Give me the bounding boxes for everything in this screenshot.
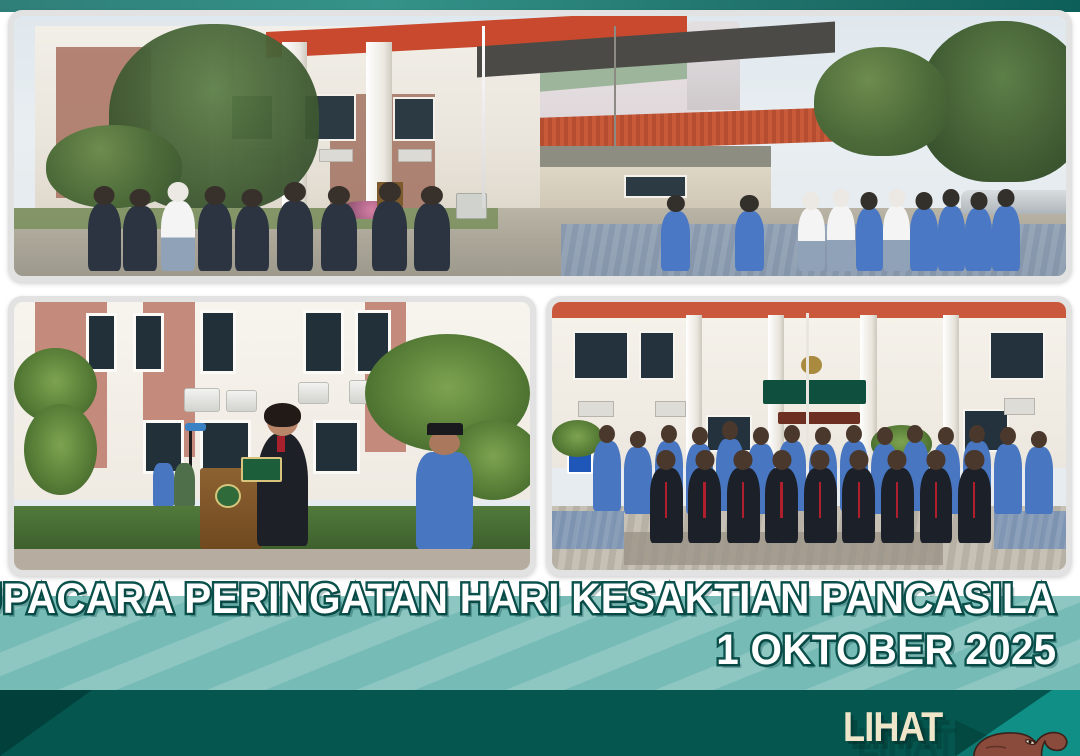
group-member-back [1025,447,1053,514]
official-figure [161,201,195,271]
official-figure [88,203,122,271]
group-member-front [650,468,683,543]
flag-pole [482,26,485,208]
participant-figure [965,208,992,270]
poster-title: UPACARA PERINGATAN HARI KESAKTIAN PANCAS… [0,578,1056,671]
photo-frame-speaker-podium[interactable] [8,296,536,576]
photo-speaker-podium [14,302,530,570]
ac-unit-3 [298,382,329,403]
title-line-1: UPACARA PERINGATAN HARI KESAKTIAN PANCAS… [0,578,1056,620]
tree-far-right [814,47,951,156]
official-figure [277,201,313,271]
photo-ceremony-wide [14,16,1066,276]
official-figure [321,203,357,271]
photo-collage [0,0,1080,600]
canopy-window-2 [624,175,687,198]
mascot-character [966,726,1078,756]
ac-unit-2 [226,390,257,411]
attendee-batik-left [153,463,174,506]
official-figure [414,203,450,271]
group-member-front [765,468,798,543]
group-member-front [804,468,837,543]
official-figure [123,206,157,271]
ceremony-commander [735,211,764,271]
attendee-batik-right [416,452,473,548]
upper-window-1 [86,313,117,372]
ceremony-leader [661,211,690,271]
participant-figure [856,208,883,270]
speaker-hair [264,403,301,427]
photo-frame-group-portrait[interactable] [546,296,1072,576]
palm-fronds-left [24,404,96,495]
participant-figure [938,206,965,271]
ac-unit-left [578,401,614,417]
group-member-back [624,447,652,514]
upper-window-2 [133,313,164,372]
group-member-back [994,444,1022,514]
ac-unit-2 [319,149,353,162]
information-board [763,380,866,404]
ac-unit-3 [398,149,432,162]
group-member-front [881,468,914,543]
participant-figure [910,208,937,270]
microphone-head [185,423,206,431]
mascot-icon [966,726,1078,756]
group-member-front [727,468,760,543]
facade-window-1 [573,331,630,379]
utility-pole [614,26,616,146]
wall-emblem [801,356,822,375]
upper-window-3 [200,310,236,374]
group-member-back [593,441,621,511]
facade-window-3 [989,331,1046,379]
group-member-front [842,468,875,543]
photo-frame-ceremony-wide[interactable] [8,10,1072,282]
poster-canvas: UPACARA PERINGATAN HARI KESAKTIAN PANCAS… [0,0,1080,756]
blue-paving-left [552,511,624,549]
view-more-button[interactable]: LIHAT [843,706,959,748]
participant-figure [827,206,854,271]
blue-paving-right [994,511,1066,549]
office-nameplate [778,412,860,424]
attendee-hijab-left [174,463,195,506]
ceremony-folder [241,457,282,481]
speaker-tie [277,436,285,452]
ac-unit-left-2 [655,401,686,417]
title-line-2: 1 OKTOBER 2025 [0,629,1056,671]
lower-window-3 [313,420,359,474]
group-member-front [688,468,721,543]
facade-window-2 [639,331,675,379]
participant-figure [883,206,910,271]
official-figure [372,201,408,271]
flag-pole [806,313,809,463]
group-member-front [920,468,953,543]
ac-unit-1 [184,388,220,412]
photo-group-portrait [552,302,1066,570]
upper-window-4 [303,310,344,374]
official-figure [198,203,232,271]
official-figure [235,206,269,271]
building-window-3 [393,97,435,141]
group-member-front [958,468,991,543]
lihat-label: LIHAT [843,706,942,748]
participant-figure [992,206,1019,271]
ground-plane [14,549,530,570]
ac-unit-right [1004,398,1035,414]
peci-cap-right [427,423,463,435]
participant-figure [798,208,825,270]
